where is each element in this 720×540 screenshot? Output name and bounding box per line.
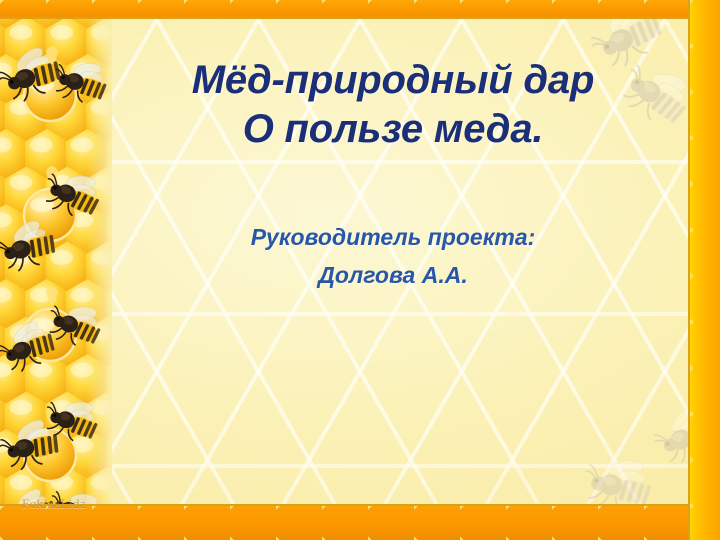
slide-subtitle: Руководитель проекта: Долгова А.А. [112, 218, 674, 294]
presentation-slide: Мёд-природный дар О пользе меда. Руковод… [0, 0, 720, 540]
slide-title: Мёд-природный дар О пользе меда. [112, 56, 674, 154]
subtitle-line-role: Руководитель проекта: [112, 218, 674, 256]
watermark-text: FokinaLida [22, 496, 86, 512]
slide-text-area: Мёд-природный дар О пользе меда. Руковод… [112, 0, 690, 540]
border-fade-edge [86, 0, 112, 540]
frame-right-zigzag [690, 0, 720, 540]
left-honeycomb-border [0, 0, 112, 540]
subtitle-line-name: Долгова А.А. [112, 256, 674, 294]
